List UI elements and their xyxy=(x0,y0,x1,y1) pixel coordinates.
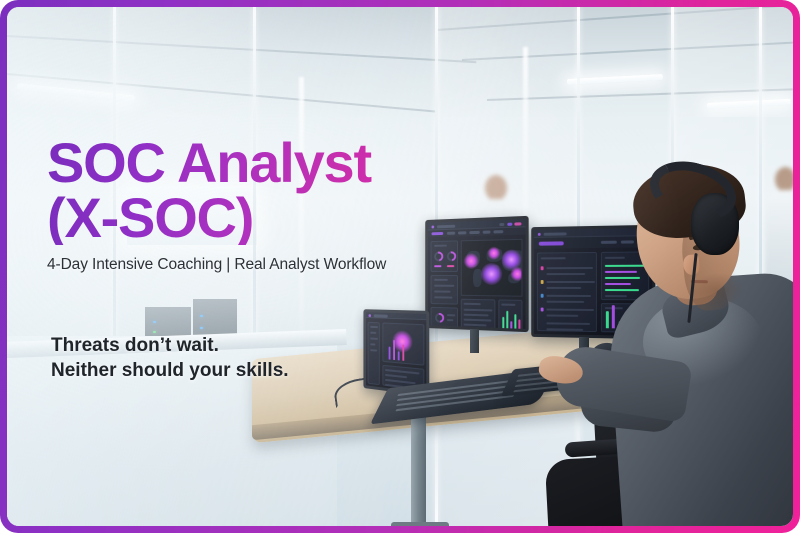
chart-bar xyxy=(398,351,400,360)
banner-inner-frame: SOC Analyst (X-SOC) 4-Day Intensive Coac… xyxy=(7,7,793,526)
tagline: Threats don’t wait. Neither should your … xyxy=(51,333,289,383)
page-title: SOC Analyst (X-SOC) xyxy=(47,135,447,245)
ceiling-beam xyxy=(7,35,476,63)
monitor-stand-neck xyxy=(470,329,479,353)
alert-list-panel xyxy=(537,252,597,332)
gauge-ring xyxy=(435,313,444,323)
subtitle: 4-Day Intensive Coaching | Real Analyst … xyxy=(47,256,447,274)
metrics-list-panel xyxy=(431,275,458,305)
chart-bar xyxy=(502,317,504,329)
events-table-panel xyxy=(461,299,496,329)
gauge-panel-lower xyxy=(431,307,458,329)
headline-block: SOC Analyst (X-SOC) 4-Day Intensive Coac… xyxy=(47,135,447,274)
events-chart-panel xyxy=(498,299,522,329)
soc-analyst xyxy=(595,157,793,526)
laptop-sidebar-panel xyxy=(368,322,380,385)
office-ceiling xyxy=(7,7,793,125)
desk-foot xyxy=(391,522,449,526)
critical-alert-row xyxy=(541,266,544,270)
chart-bar xyxy=(402,345,404,361)
ceiling-beam xyxy=(437,7,793,31)
global-threat-map xyxy=(461,239,523,297)
dashboard-titlebar xyxy=(366,312,426,320)
chart-bar xyxy=(518,319,520,329)
chart-bar xyxy=(389,347,391,360)
gauge-ring xyxy=(447,251,456,261)
desk-leg xyxy=(411,417,426,526)
promo-banner: SOC Analyst (X-SOC) 4-Day Intensive Coac… xyxy=(0,0,800,533)
chart-bar xyxy=(393,340,395,360)
chart-bar xyxy=(510,321,512,329)
ceiling-beam xyxy=(487,88,793,101)
analyst-workstation-dashboard xyxy=(366,312,426,393)
laptop-screen xyxy=(366,312,426,393)
ceiling-beam xyxy=(462,41,793,61)
chart-bar xyxy=(514,314,516,329)
chart-bar xyxy=(506,311,508,329)
laptop-chart-panel xyxy=(382,322,424,365)
